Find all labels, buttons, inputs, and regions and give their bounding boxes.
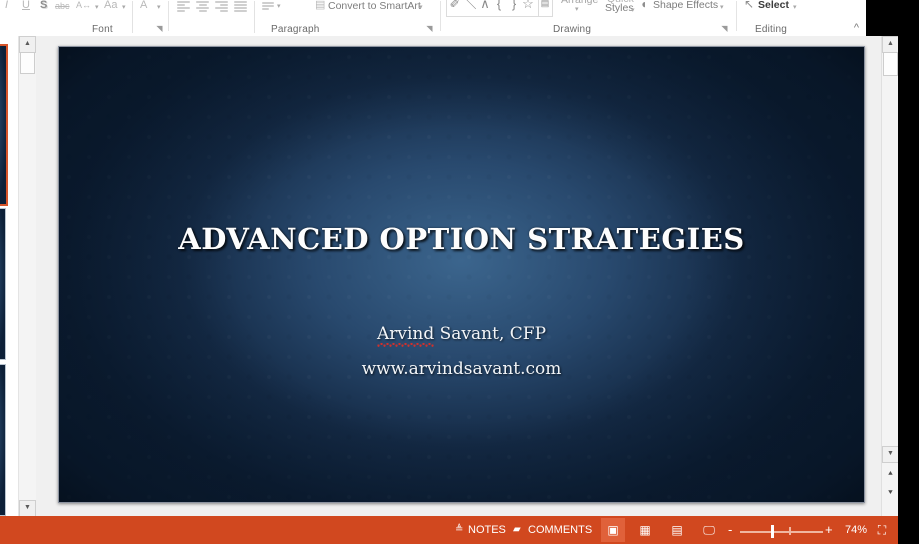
font-dialog-launcher[interactable]: ◥ [155, 24, 164, 33]
ribbon-group-editing: ↖ Select ▾ Editing [740, 0, 860, 36]
italic-icon[interactable]: I [5, 0, 8, 12]
thumbnail-scroll-down-button[interactable]: ▼ [19, 500, 36, 517]
slide-background-vignette [59, 47, 864, 502]
comments-icon[interactable]: ▰ [513, 524, 521, 535]
font-color-caret-icon[interactable]: ▾ [157, 1, 161, 15]
comments-button[interactable]: COMMENTS [528, 516, 592, 544]
shapes-more-icon[interactable]: ▤ [539, 0, 551, 12]
character-spacing-icon[interactable]: A↔ [76, 0, 91, 12]
drawing-dialog-launcher[interactable]: ◥ [720, 24, 729, 33]
slide-scroll-up-button[interactable]: ▲ [882, 36, 899, 53]
paragraph-dialog-launcher[interactable]: ◥ [425, 24, 434, 33]
ribbon-group-editing-label: Editing [755, 24, 787, 35]
zoom-level-label[interactable]: 74% [845, 516, 867, 544]
slide-thumbnail-3[interactable] [0, 364, 6, 516]
star-shape-icon[interactable]: ☆ [521, 0, 535, 12]
slide-scroll-down-button[interactable]: ▼ [882, 446, 899, 463]
notes-icon[interactable]: ≜ [455, 524, 463, 535]
text-shadow-icon[interactable]: S [40, 0, 47, 12]
columns-icon[interactable] [262, 2, 275, 13]
ribbon: I U S abc A↔ ▾ Aa ▾ A ▾ Font ◥ [0, 0, 919, 37]
arrange-caret-icon[interactable]: ▾ [575, 3, 579, 17]
thumbnail-pane-scrollbar[interactable]: ▲ ▼ [18, 36, 37, 516]
align-center-icon[interactable] [196, 1, 209, 12]
slide-work-area: ADVANCED OPTION STRATEGIES Arvind Savant… [36, 36, 881, 516]
character-spacing-caret-icon[interactable]: ▾ [95, 1, 99, 15]
slide-thumbnail-2[interactable] [0, 208, 6, 360]
shape-effects-label[interactable]: Shape Effects [653, 0, 718, 12]
slide-show-view-icon: 🖵 [703, 518, 715, 542]
ribbon-group-drawing: ✐ ＼ ∧ { } ☆ ▤ Arrange ▾ Quick Styles ▾ ◖… [443, 0, 733, 36]
arrange-label[interactable]: Arrange [561, 0, 598, 7]
slide-canvas[interactable]: ADVANCED OPTION STRATEGIES Arvind Savant… [58, 46, 865, 503]
thumbnail-scrollbar-thumb[interactable] [20, 52, 35, 74]
thumbnail-scroll-up-button[interactable]: ▲ [19, 36, 36, 53]
align-right-icon[interactable] [215, 1, 228, 12]
slide-thumbnail-3-preview [0, 365, 5, 515]
normal-view-icon: ▣ [607, 518, 618, 542]
next-slide-button[interactable]: ⯆ [882, 485, 899, 502]
quick-styles-label-line2[interactable]: Styles [605, 2, 634, 15]
ribbon-group-drawing-label: Drawing [553, 24, 591, 35]
slide-scrollbar-thumb[interactable] [883, 52, 898, 76]
line-shape-icon[interactable]: ＼ [463, 0, 477, 12]
columns-caret-icon[interactable]: ▾ [277, 0, 281, 14]
right-brace-shape-icon[interactable]: } [508, 0, 520, 12]
slide-thumbnail-1-preview [0, 46, 6, 204]
zoom-slider-thumb[interactable] [771, 525, 774, 538]
ribbon-group-paragraph: ▾ ▤ Convert to SmartArt ▾ Paragraph ◥ [170, 0, 435, 36]
slide-thumbnail-2-preview [0, 209, 5, 359]
zoom-slider-track[interactable] [740, 531, 823, 533]
strikethrough-icon[interactable]: abc [55, 0, 70, 13]
misspelled-word[interactable]: Arvind [377, 324, 434, 347]
select-label[interactable]: Select [758, 0, 789, 12]
slide-subtitle-name-rest: Savant, CFP [434, 324, 546, 344]
left-brace-shape-icon[interactable]: { [493, 0, 505, 12]
change-case-caret-icon[interactable]: ▾ [122, 1, 126, 15]
ribbon-right-filler [866, 0, 919, 36]
convert-to-smartart-caret-icon[interactable]: ▾ [419, 1, 423, 15]
normal-view-button[interactable]: ▣ [601, 518, 625, 542]
slide-sorter-view-icon: ▦ [639, 518, 650, 542]
slide-subtitle-website[interactable]: www.arvindsavant.com [59, 359, 864, 379]
zoom-slider-tick [789, 527, 791, 535]
freeform-shape-icon[interactable]: ✐ [448, 0, 462, 12]
slide-thumbnail-1[interactable] [0, 44, 8, 206]
zoom-out-button[interactable]: - [728, 516, 732, 544]
fit-to-window-icon: ⛶ [878, 518, 886, 542]
ribbon-group-font: I U S abc A↔ ▾ Aa ▾ A ▾ Font ◥ [0, 0, 168, 36]
powerpoint-window: I U S abc A↔ ▾ Aa ▾ A ▾ Font ◥ [0, 0, 919, 544]
slide-subtitle-name[interactable]: Arvind Savant, CFP [59, 324, 864, 344]
font-color-icon[interactable]: A [140, 0, 147, 12]
shape-effects-icon[interactable]: ◖ [640, 0, 647, 11]
slide-show-view-button[interactable]: 🖵 [697, 518, 721, 542]
quick-styles-caret-icon[interactable]: ▾ [631, 4, 635, 18]
slide-title-text[interactable]: ADVANCED OPTION STRATEGIES [59, 222, 864, 256]
status-bar-right-filler [898, 516, 919, 544]
select-pointer-icon[interactable]: ↖ [744, 0, 754, 11]
ribbon-group-paragraph-label: Paragraph [271, 24, 320, 35]
change-case-icon[interactable]: Aa [104, 0, 117, 12]
reading-view-icon: ▤ [671, 518, 682, 542]
slide-pane-scrollbar[interactable]: ▲ ▼ ⯅ ⯆ [881, 36, 899, 516]
window-right-filler [898, 36, 919, 516]
fit-to-window-button[interactable]: ⛶ [872, 518, 892, 542]
align-left-icon[interactable] [177, 1, 190, 12]
shape-effects-caret-icon[interactable]: ▾ [720, 1, 724, 15]
select-caret-icon[interactable]: ▾ [793, 1, 797, 15]
underline-icon[interactable]: U [22, 0, 30, 12]
justify-icon[interactable] [234, 1, 247, 12]
zoom-in-button[interactable]: + [825, 516, 833, 544]
previous-slide-button[interactable]: ⯅ [882, 466, 899, 483]
reading-view-button[interactable]: ▤ [665, 518, 689, 542]
convert-to-smartart-label[interactable]: Convert to SmartArt [328, 0, 421, 13]
slide-sorter-view-button[interactable]: ▦ [633, 518, 657, 542]
ribbon-group-font-label: Font [92, 24, 113, 35]
status-bar: ≜ NOTES ▰ COMMENTS ▣ ▦ ▤ 🖵 - + 74% ⛶ [0, 516, 919, 544]
notes-button[interactable]: NOTES [468, 516, 506, 544]
arc-shape-icon[interactable]: ∧ [478, 0, 492, 12]
collapse-ribbon-button[interactable]: ^ [854, 22, 859, 34]
convert-to-smartart-icon[interactable]: ▤ [315, 0, 325, 12]
